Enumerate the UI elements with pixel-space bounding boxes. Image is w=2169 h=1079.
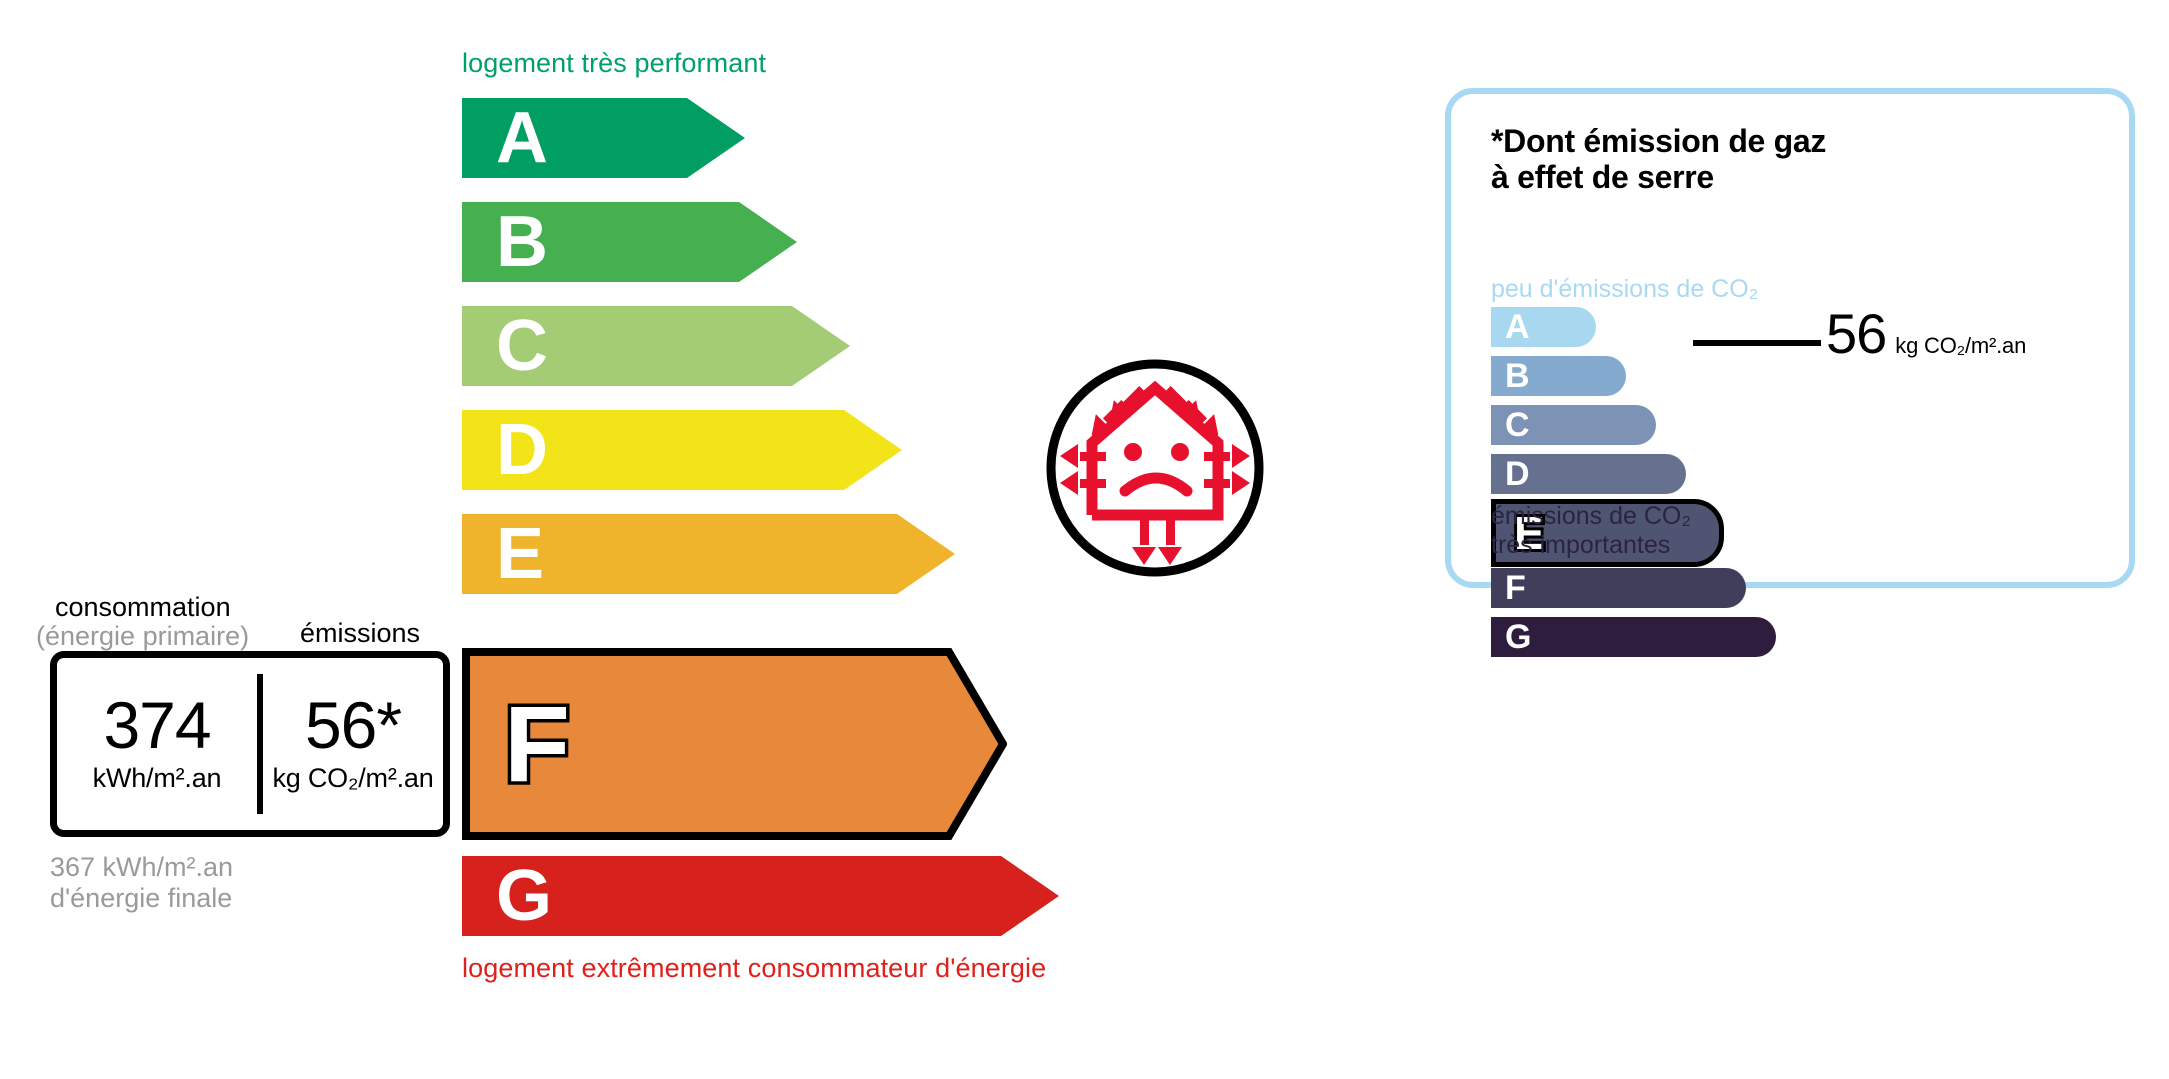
energy-top-caption: logement très performant: [462, 48, 766, 79]
co2-top-caption: peu d'émissions de CO₂: [1491, 275, 1758, 304]
co2-value: 56*: [305, 694, 401, 757]
co2-class-letter-f: F: [1505, 571, 1526, 605]
co2-class-bar-g[interactable]: G: [1491, 617, 1776, 657]
energy-bottom-caption: logement extrêmement consommateur d'éner…: [462, 953, 1046, 984]
energy-class-bar-d[interactable]: D: [462, 410, 902, 490]
co2-class-bar-d[interactable]: D: [1491, 454, 1686, 494]
final-energy-note: 367 kWh/m².an d'énergie finale: [50, 852, 233, 914]
co2-class-bar-c[interactable]: C: [1491, 405, 1656, 445]
co2-panel-title: *Dont émission de gaz à effet de serre: [1491, 124, 1826, 196]
co2-leader-line: [1693, 340, 1821, 346]
final-energy-note-line2: d'énergie finale: [50, 883, 233, 914]
co2-class-bar-f[interactable]: F: [1491, 568, 1746, 608]
consumption-label: consommation: [55, 592, 231, 623]
co2-value-number: 56: [1826, 306, 1886, 362]
co2-class-bar-b[interactable]: B: [1491, 356, 1626, 396]
co2-panel-title-line2: à effet de serre: [1491, 160, 1826, 196]
energy-class-letter-f: F: [504, 690, 569, 798]
energy-class-bar-a[interactable]: A: [462, 98, 745, 178]
co2-class-letter-c: C: [1505, 408, 1530, 442]
energy-performance-chart: logement très performant ABCDEFG logemen…: [0, 0, 1330, 1079]
energy-class-bar-f[interactable]: F: [462, 648, 1007, 840]
dpe-diagram: logement très performant ABCDEFG logemen…: [0, 0, 2169, 1079]
co2-unit: kg CO₂/m².an: [272, 763, 433, 794]
energy-class-letter-d: D: [496, 414, 547, 486]
primary-energy-label: (énergie primaire): [36, 621, 249, 652]
energy-class-bar-shape-g: [462, 856, 1059, 936]
co2-class-letter-g: G: [1505, 620, 1531, 654]
energy-class-bar-b[interactable]: B: [462, 202, 797, 282]
primary-energy-value-cell: 374 kWh/m².an: [57, 658, 257, 830]
primary-energy-value: 374: [103, 694, 210, 757]
sad-house-heat-loss-icon: [1040, 355, 1270, 585]
primary-energy-unit: kWh/m².an: [93, 763, 222, 794]
energy-class-bar-g[interactable]: G: [462, 856, 1059, 936]
final-energy-note-line1: 367 kWh/m².an: [50, 852, 233, 883]
co2-bottom-caption-line2: très importantes: [1491, 531, 1691, 560]
co2-class-letter-b: B: [1505, 359, 1530, 393]
co2-class-bar-a[interactable]: A: [1491, 307, 1596, 347]
energy-class-letter-b: B: [496, 206, 547, 278]
energy-class-letter-e: E: [496, 518, 543, 590]
value-readout-box: 374 kWh/m².an 56* kg CO₂/m².an: [50, 651, 450, 837]
co2-value-readout: 56 kg CO₂/m².an: [1826, 306, 2026, 362]
co2-panel-title-line1: *Dont émission de gaz: [1491, 124, 1826, 160]
energy-class-letter-g: G: [496, 860, 551, 932]
energy-class-letter-c: C: [496, 310, 547, 382]
co2-class-letter-a: A: [1505, 310, 1530, 344]
emissions-label: émissions: [300, 618, 420, 649]
co2-bottom-caption: émissions de CO₂ très importantes: [1491, 502, 1691, 560]
co2-class-letter-d: D: [1505, 457, 1530, 491]
co2-value-unit: kg CO₂/m².an: [1895, 333, 2026, 359]
energy-class-letter-a: A: [496, 102, 547, 174]
co2-bottom-caption-line1: émissions de CO₂: [1491, 502, 1691, 531]
co2-value-cell: 56* kg CO₂/m².an: [263, 658, 443, 830]
energy-class-bar-e[interactable]: E: [462, 514, 955, 594]
energy-class-bar-c[interactable]: C: [462, 306, 850, 386]
co2-emissions-panel: *Dont émission de gaz à effet de serre p…: [1445, 88, 2135, 588]
